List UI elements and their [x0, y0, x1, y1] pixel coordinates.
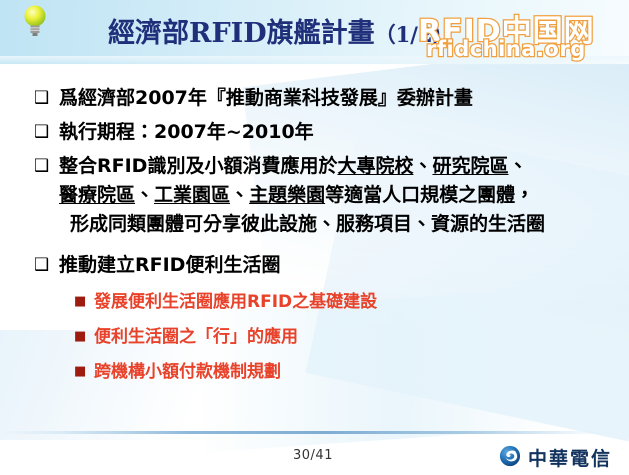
- bullet-text-segment: 、: [135, 184, 154, 206]
- sub-bullet-item: ■ 發展便利生活圈應用RFID之基礎建設: [74, 289, 377, 315]
- bullet-item: ❑ 推動建立RFID便利生活圈: [34, 251, 280, 279]
- bullet-item: ❑ 整合RFID識別及小額消費應用於大專院校、研究院區、: [34, 152, 528, 180]
- bullet-continuation-line: 醫療院區、工業園區、主題樂園等適當人口規模之團體，: [59, 181, 534, 209]
- bullet-text: 執行期程：2007年~2010年: [59, 118, 314, 146]
- bullet-text: 爲經濟部2007年『推動商業科技發展』委辦計畫: [59, 84, 473, 112]
- slide-canvas: 經濟部RFID旗艦計畫（1/2） RFID中国网 rfidchina.org ❑…: [0, 0, 629, 475]
- chunghwa-telecom-logo-icon: [499, 445, 521, 471]
- square-bullet-icon: ❑: [34, 251, 59, 279]
- page-title-suffix: （1/2）: [375, 22, 454, 47]
- page-number: 30/41: [293, 448, 333, 463]
- slide-body: ❑ 爲經濟部2007年『推動商業科技發展』委辦計畫 ❑ 執行期程：2007年~2…: [0, 70, 629, 425]
- bullet-text-segment: 等適當人口規模之團體，: [325, 184, 534, 206]
- sub-bullet-item: ■ 便利生活圈之「行」的應用: [74, 324, 298, 350]
- sub-bullet-text: 便利生活圈之「行」的應用: [94, 324, 298, 350]
- footer-divider: [0, 431, 629, 434]
- header-band-fade: [0, 56, 629, 66]
- bullet-item: ❑ 執行期程：2007年~2010年: [34, 118, 314, 146]
- bullet-text-segment: 形成同類團體可分享彼此設施、服務項目、資源的生活圈: [70, 213, 545, 235]
- sub-bullet-item: ■ 跨機構小額付款機制規劃: [74, 359, 281, 385]
- bullet-text-segment: 、: [230, 184, 249, 206]
- bullet-text-segment: 醫療院區: [59, 184, 135, 206]
- lightbulb-icon: [22, 4, 48, 38]
- filled-square-bullet-icon: ■: [74, 289, 94, 315]
- square-bullet-icon: ❑: [34, 152, 59, 180]
- filled-square-bullet-icon: ■: [74, 359, 94, 385]
- bullet-text-segment: 、: [413, 155, 432, 177]
- brand-logo: 中華電信: [499, 444, 612, 471]
- bullet-item: ❑ 爲經濟部2007年『推動商業科技發展』委辦計畫: [34, 84, 473, 112]
- bullet-text: 推動建立RFID便利生活圈: [59, 251, 280, 279]
- filled-square-bullet-icon: ■: [74, 324, 94, 350]
- bullet-text-segment: 工業園區: [154, 184, 230, 206]
- page-title: 經濟部RFID旗艦計畫（1/2）: [108, 17, 578, 52]
- bullet-text-segment: 主題樂園: [249, 184, 325, 206]
- bullet-text-segment: 、: [509, 155, 528, 177]
- bullet-continuation-line: 形成同類團體可分享彼此設施、服務項目、資源的生活圈: [70, 210, 545, 238]
- sub-bullet-text: 跨機構小額付款機制規劃: [94, 359, 281, 385]
- bullet-text-segment: 整合RFID識別及小額消費應用於: [59, 155, 337, 177]
- bullet-text: 整合RFID識別及小額消費應用於大專院校、研究院區、: [59, 152, 528, 180]
- square-bullet-icon: ❑: [34, 118, 59, 146]
- square-bullet-icon: ❑: [34, 84, 59, 112]
- sub-bullet-text: 發展便利生活圈應用RFID之基礎建設: [94, 289, 377, 315]
- bullet-text-segment: 研究院區: [432, 155, 508, 177]
- brand-name: 中華電信: [528, 444, 612, 471]
- bullet-text-segment: 大專院校: [337, 155, 413, 177]
- page-title-main: 經濟部RFID旗艦計畫: [108, 18, 375, 49]
